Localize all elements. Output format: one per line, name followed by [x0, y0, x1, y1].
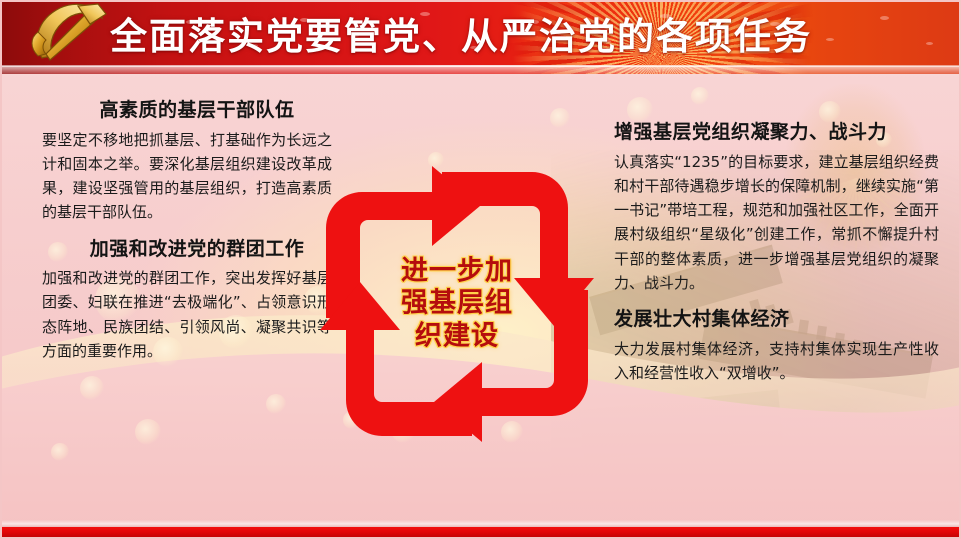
left-text-column: 高素质的基层干部队伍 要坚定不移地把抓基层、打基础作为长远之计和固本之举。要深化… — [24, 96, 336, 367]
block-body: 要坚定不移地把抓基层、打基础作为长远之计和固本之举。要深化基层组织建设改革成果，… — [24, 128, 336, 225]
header-banner: 全面落实党要管党、从严治党的各项任务 — [0, 0, 961, 74]
block-body: 大力发展村集体经济，支持村集体实现生产性收入和经营性收入“双增收”。 — [600, 337, 945, 386]
bottom-accent-bar — [0, 527, 961, 539]
arrow-bottom-left-to-up — [320, 282, 472, 436]
text-block-village-economy: 发展壮大村集体经济 大力发展村集体经济，支持村集体实现生产性收入和经营性收入“双… — [600, 305, 945, 385]
slide-canvas: 全面落实党要管党、从严治党的各项任务 — [0, 0, 961, 539]
block-heading: 加强和改进党的群团工作 — [24, 235, 336, 264]
block-heading: 发展壮大村集体经济 — [600, 305, 945, 334]
page-title: 全面落实党要管党、从严治党的各项任务 — [110, 0, 812, 66]
hammer-and-sickle-emblem — [16, 0, 114, 74]
cycle-diagram: 进一步加 强基层组 织建设 — [312, 158, 602, 450]
text-block-mass-organization: 加强和改进党的群团工作 加强和改进党的群团工作，突出发挥好基层团委、妇联在推进“… — [24, 235, 336, 364]
block-heading: 高素质的基层干部队伍 — [24, 96, 336, 125]
header-underline — [0, 65, 961, 67]
block-body: 认真落实“1235”的目标要求，建立基层组织经费和村干部待遇稳步增长的保障机制，… — [600, 150, 945, 296]
header-reflection — [0, 66, 961, 78]
block-heading: 增强基层党组织凝聚力、战斗力 — [600, 118, 945, 147]
right-text-column: 增强基层党组织凝聚力、战斗力 认真落实“1235”的目标要求，建立基层组织经费和… — [600, 118, 945, 389]
text-block-party-cohesion: 增强基层党组织凝聚力、战斗力 认真落实“1235”的目标要求，建立基层组织经费和… — [600, 118, 945, 295]
block-body: 加强和改进党的群团工作，突出发挥好基层团委、妇联在推进“去极端化”、占领意识形态… — [24, 266, 336, 363]
text-block-quality-cadre: 高素质的基层干部队伍 要坚定不移地把抓基层、打基础作为长远之计和固本之举。要深化… — [24, 96, 336, 225]
bottom-bar-gloss — [0, 520, 961, 527]
